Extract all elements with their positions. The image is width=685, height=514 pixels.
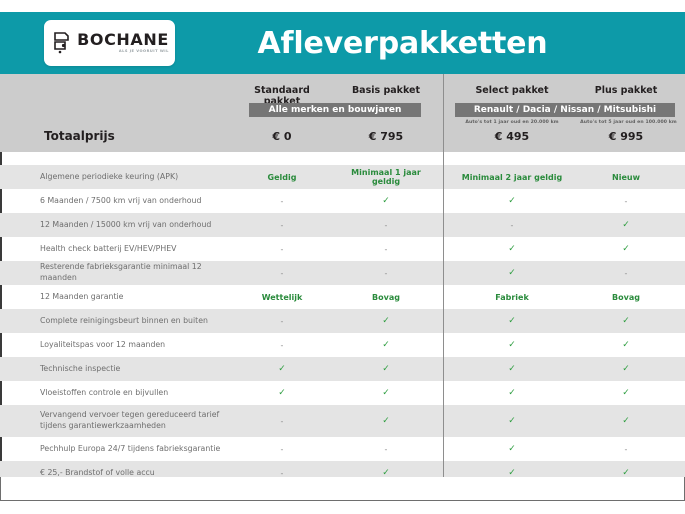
- total-price-select: € 495: [452, 130, 572, 143]
- table-row: Technische inspectie✓✓✓✓: [0, 357, 685, 381]
- table-row: Algemene periodieke keuring (APK)GeldigM…: [0, 165, 685, 189]
- left-group-scope-pill: Alle merken en bouwjaren: [249, 103, 421, 117]
- cell-value: -: [240, 445, 324, 454]
- cell-value: ✓: [576, 340, 676, 350]
- cell-value: ✓: [576, 416, 676, 426]
- row-label: Vervangend vervoer tegen gereduceerd tar…: [40, 410, 240, 431]
- cell-value: Minimaal 1 jaar geldig: [336, 168, 436, 186]
- cell-value: -: [576, 445, 676, 454]
- row-left-tick: [0, 261, 2, 285]
- cell-value: ✓: [452, 196, 572, 206]
- cell-value: ✓: [452, 388, 572, 398]
- cell-value: -: [240, 221, 324, 230]
- row-label: Technische inspectie: [40, 364, 240, 375]
- cell-value: ✓: [452, 340, 572, 350]
- cell-value: ✓: [576, 244, 676, 254]
- cell-value: ✓: [336, 388, 436, 398]
- cell-value: -: [336, 269, 436, 278]
- cell-value: Bovag: [576, 293, 676, 302]
- table-row: 12 Maanden / 15000 km vrij van onderhoud…: [0, 213, 685, 237]
- row-label: 12 Maanden garantie: [40, 292, 240, 303]
- row-label: Loyaliteitspas voor 12 maanden: [40, 340, 240, 351]
- total-price-label: Totaalprijs: [44, 129, 115, 143]
- cell-value: ✓: [452, 364, 572, 374]
- bochane-logo: BOCHANE ALS JE VOORUIT WIL: [44, 20, 175, 66]
- column-header-basis: Basis pakket: [336, 85, 436, 96]
- cell-value: ✓: [336, 196, 436, 206]
- cell-value: ✓: [576, 316, 676, 326]
- cell-value: ✓: [452, 316, 572, 326]
- cell-value: -: [336, 221, 436, 230]
- table-row: 6 Maanden / 7500 km vrij van onderhoud-✓…: [0, 189, 685, 213]
- row-left-tick: [0, 285, 2, 309]
- table-row: Resterende fabrieksgarantie minimaal 12 …: [0, 261, 685, 285]
- cell-value: -: [576, 197, 676, 206]
- row-label: Resterende fabrieksgarantie minimaal 12 …: [40, 262, 240, 283]
- logo-tagline: ALS JE VOORUIT WIL: [119, 50, 169, 54]
- row-left-tick: [0, 357, 2, 381]
- table-row: Vervangend vervoer tegen gereduceerd tar…: [0, 405, 685, 437]
- select-package-subtitle: Auto's tot 1 jaar oud en 20.000 km: [452, 120, 572, 125]
- table-row: Pechhulp Europa 24/7 tijdens fabrieksgar…: [0, 437, 685, 461]
- table-row: 12 Maanden garantieWettelijkBovagFabriek…: [0, 285, 685, 309]
- cell-value: -: [240, 269, 324, 278]
- column-header-select: Select pakket: [452, 85, 572, 96]
- cell-value: ✓: [336, 416, 436, 426]
- cell-value: ✓: [240, 388, 324, 398]
- logo-wordmark: BOCHANE: [77, 32, 169, 48]
- row-left-tick: [0, 437, 2, 461]
- cell-value: Geldig: [240, 173, 324, 182]
- cell-value: -: [240, 417, 324, 426]
- row-left-tick: [0, 165, 2, 189]
- total-price-standaard: € 0: [240, 130, 324, 143]
- cell-value: -: [336, 245, 436, 254]
- cell-value: Fabriek: [452, 293, 572, 302]
- cell-value: Minimaal 2 jaar geldig: [452, 173, 572, 182]
- cell-value: -: [240, 197, 324, 206]
- features-table: Algemene periodieke keuring (APK)GeldigM…: [0, 165, 685, 485]
- total-price-basis: € 795: [336, 130, 436, 143]
- row-label: Algemene periodieke keuring (APK): [40, 172, 240, 183]
- row-left-tick: [0, 213, 2, 237]
- table-footer-row: [0, 477, 685, 501]
- column-header-plus: Plus pakket: [576, 85, 676, 96]
- cell-value: ✓: [452, 268, 572, 278]
- cell-value: -: [336, 445, 436, 454]
- row-label: Health check batterij EV/HEV/PHEV: [40, 244, 240, 255]
- cell-value: -: [240, 317, 324, 326]
- right-group-scope-pill: Renault / Dacia / Nissan / Mitsubishi: [455, 103, 675, 117]
- plus-package-subtitle: Auto's tot 5 jaar oud en 100.000 km: [576, 120, 681, 125]
- row-left-tick: [0, 309, 2, 333]
- row-left-tick: [0, 189, 2, 213]
- cell-value: -: [240, 341, 324, 350]
- table-row: Loyaliteitspas voor 12 maanden-✓✓✓: [0, 333, 685, 357]
- afleverpakketten-page: Afleverpakketten BOCHANE ALS JE VOORUIT …: [0, 0, 685, 514]
- package-group-divider: [443, 74, 444, 501]
- cell-value: Bovag: [336, 293, 436, 302]
- cell-value: ✓: [576, 220, 676, 230]
- row-label: Complete reinigingsbeurt binnen en buite…: [40, 316, 240, 327]
- table-row: Complete reinigingsbeurt binnen en buite…: [0, 309, 685, 333]
- cell-value: ✓: [576, 364, 676, 374]
- cell-value: ✓: [452, 444, 572, 454]
- cell-value: -: [452, 221, 572, 230]
- row-label: 6 Maanden / 7500 km vrij van onderhoud: [40, 196, 240, 207]
- cell-value: -: [240, 245, 324, 254]
- cell-value: Nieuw: [576, 173, 676, 182]
- row-label: Pechhulp Europa 24/7 tijdens fabrieksgar…: [40, 444, 240, 455]
- bochane-mark-icon: [52, 31, 72, 55]
- spacer-left-tick: [0, 152, 2, 165]
- cell-value: ✓: [452, 416, 572, 426]
- cell-value: ✓: [240, 364, 324, 374]
- row-label: Vloeistoffen controle en bijvullen: [40, 388, 240, 399]
- cell-value: ✓: [336, 340, 436, 350]
- cell-value: ✓: [336, 364, 436, 374]
- cell-value: Wettelijk: [240, 293, 324, 302]
- row-left-tick: [0, 405, 2, 437]
- row-left-tick: [0, 381, 2, 405]
- cell-value: -: [576, 269, 676, 278]
- table-row: Vloeistoffen controle en bijvullen✓✓✓✓: [0, 381, 685, 405]
- row-label: 12 Maanden / 15000 km vrij van onderhoud: [40, 220, 240, 231]
- row-left-tick: [0, 333, 2, 357]
- cell-value: ✓: [336, 316, 436, 326]
- header-banner: Afleverpakketten BOCHANE ALS JE VOORUIT …: [0, 12, 685, 74]
- table-row: Health check batterij EV/HEV/PHEV--✓✓: [0, 237, 685, 261]
- band-spacer: [0, 152, 685, 165]
- total-price-plus: € 995: [576, 130, 676, 143]
- row-left-tick: [0, 237, 2, 261]
- cell-value: ✓: [452, 244, 572, 254]
- cell-value: ✓: [576, 388, 676, 398]
